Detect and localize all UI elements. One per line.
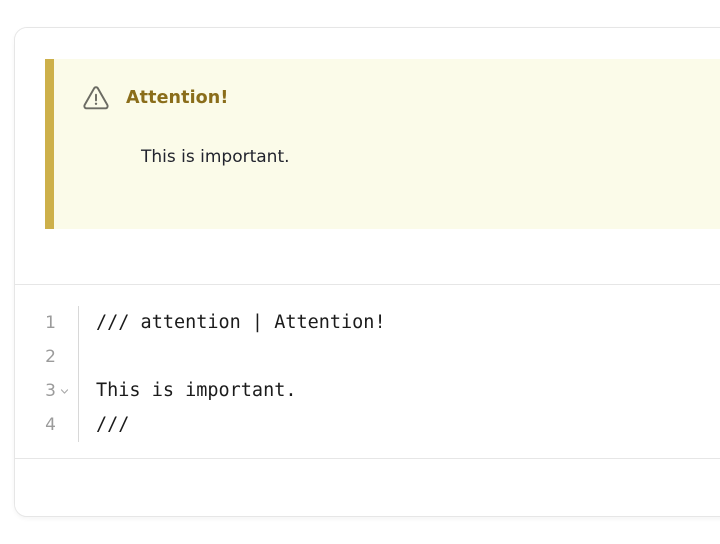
- code-line[interactable]: /// attention | Attention!: [96, 306, 720, 340]
- code-line[interactable]: [96, 340, 720, 374]
- admonition-attention: Attention! This is important.: [45, 59, 720, 229]
- code-inner: 1 2 3: [15, 306, 720, 442]
- line-number: 2: [44, 340, 56, 374]
- gutter-row: 2: [15, 340, 78, 374]
- preview-card: Attention! This is important. 1 2: [14, 27, 720, 517]
- code-line[interactable]: This is important.: [96, 374, 720, 408]
- gutter-row: 3: [15, 374, 78, 408]
- chevron-down-icon[interactable]: [60, 387, 69, 396]
- page-root: Attention! This is important. 1 2: [0, 0, 720, 544]
- fold-slot: [56, 408, 72, 442]
- line-number: 3: [44, 374, 56, 408]
- line-number: 1: [44, 306, 56, 340]
- admonition-title-row: Attention!: [81, 83, 228, 113]
- gutter-row: 1: [15, 306, 78, 340]
- line-number: 4: [44, 408, 56, 442]
- admonition-title: Attention!: [126, 88, 228, 108]
- line-number-gutter: 1 2 3: [15, 306, 79, 442]
- code-lines[interactable]: /// attention | Attention! This is impor…: [79, 306, 720, 442]
- source-code-pane[interactable]: 1 2 3: [15, 286, 720, 459]
- code-line[interactable]: ///: [96, 408, 720, 442]
- fold-slot: [56, 340, 72, 374]
- warning-triangle-icon: [81, 83, 111, 113]
- fold-slot: [56, 306, 72, 340]
- gutter-row: 4: [15, 408, 78, 442]
- card-footer: [15, 460, 720, 516]
- rendered-preview-pane: Attention! This is important.: [15, 28, 720, 285]
- admonition-body-text: This is important.: [141, 147, 290, 167]
- fold-slot[interactable]: [56, 374, 72, 408]
